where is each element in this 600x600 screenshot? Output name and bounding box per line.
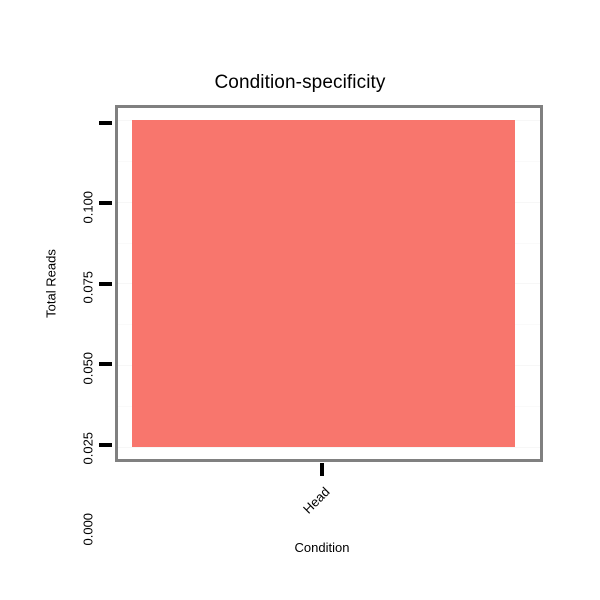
x-axis-title: Condition [122,540,522,555]
y-tick-mark-1 [99,362,112,366]
y-axis-title: Total Reads [44,224,59,344]
chart-title: Condition-specificity [0,72,600,94]
x-tick-mark-0 [320,463,324,476]
gridline-major-0 [118,447,540,448]
bar-head[interactable] [132,120,515,447]
y-tick-mark-3 [99,201,112,205]
y-tick-label-4: 0.100 [81,124,96,224]
chart-canvas: Condition-specificity Total Reads 0.000 … [0,0,600,600]
y-tick-mark-2 [99,282,112,286]
y-tick-mark-4 [99,121,112,125]
plot-panel [115,105,543,462]
plot-panel-inner [118,108,540,459]
y-tick-mark-0 [99,443,112,447]
